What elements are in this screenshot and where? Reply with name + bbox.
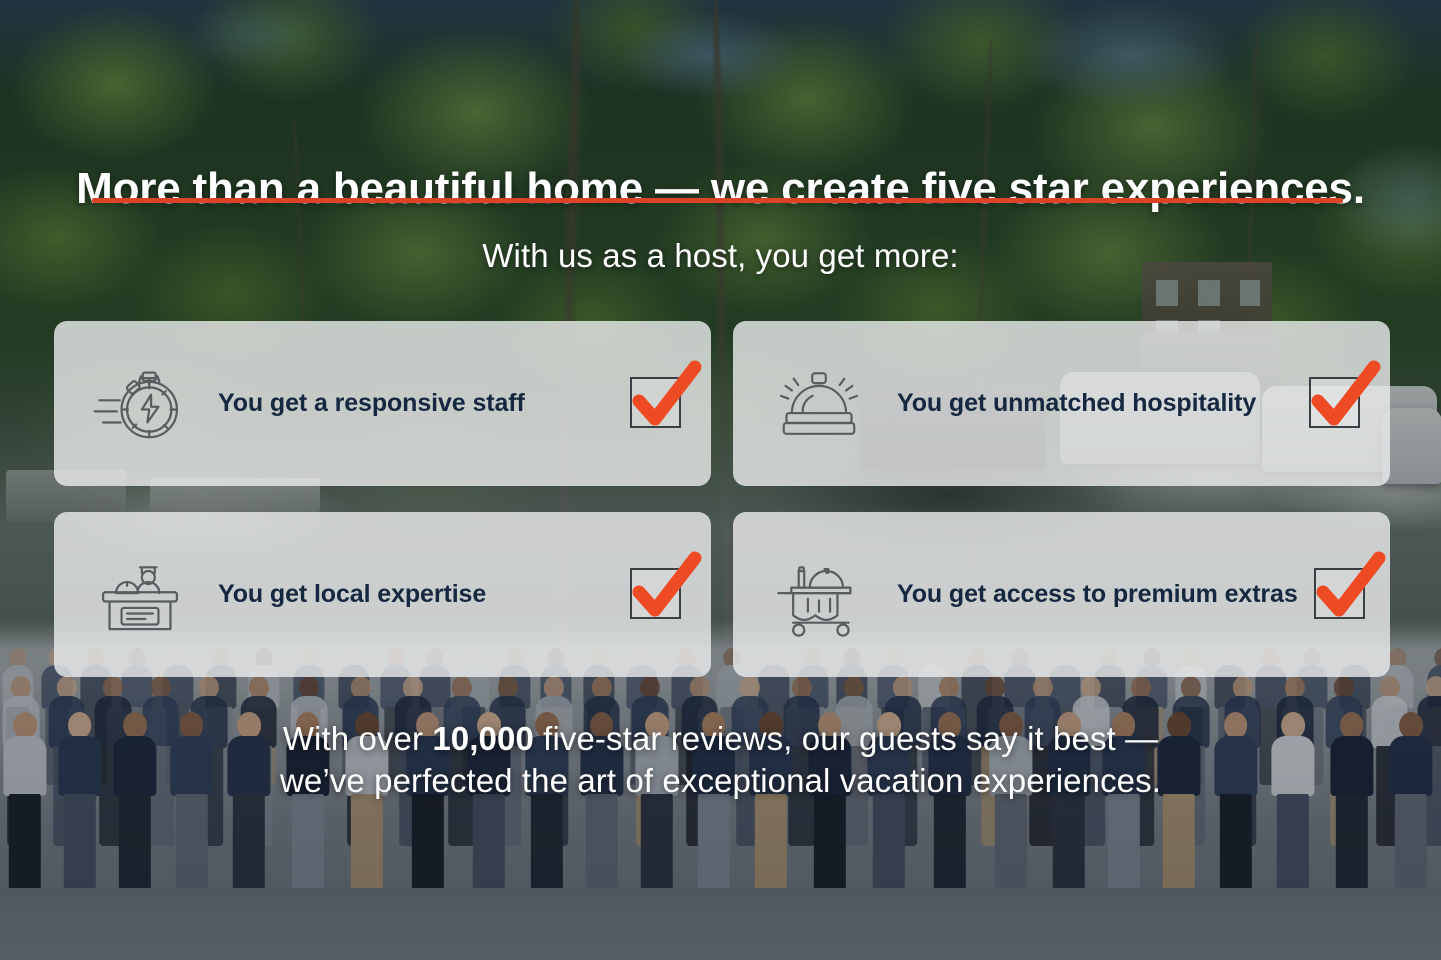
benefits-grid: You get a responsive staff [54,321,1390,677]
benefit-label: You get access to premium extras [871,580,1298,609]
reviews-line-1-prefix: With over [283,720,433,757]
hero-section: More than a beautiful home — we create f… [0,0,1441,960]
check-icon [1313,556,1385,624]
reviews-count: 10,000 [432,720,534,757]
benefit-label: You get unmatched hospitality [871,389,1293,418]
check-icon [629,556,701,624]
page-title: More than a beautiful home — we create f… [0,165,1441,213]
service-bell-icon [767,352,871,456]
benefit-card-local-expertise[interactable]: You get local expertise [54,512,711,677]
benefit-checkbox[interactable] [630,568,683,621]
check-icon [629,365,701,433]
stopwatch-lightning-icon [88,352,192,456]
reception-desk-icon [88,543,192,647]
benefit-card-responsive-staff[interactable]: You get a responsive staff [54,321,711,486]
benefit-card-premium-extras[interactable]: You get access to premium extras [733,512,1390,677]
benefit-card-unmatched-hospitality[interactable]: You get unmatched hospitality [733,321,1390,486]
reviews-line-1-suffix: five-star reviews, our guests say it bes… [534,720,1158,757]
benefit-label: You get a responsive staff [192,389,614,418]
check-icon [1308,365,1380,433]
benefit-checkbox[interactable] [1314,568,1367,621]
reviews-statement: With over 10,000 five-star reviews, our … [0,718,1441,802]
title-underline-rule [92,198,1343,203]
benefit-label: You get local expertise [192,580,614,609]
room-service-cart-icon [767,543,871,647]
benefit-checkbox[interactable] [1309,377,1362,430]
benefit-checkbox[interactable] [630,377,683,430]
reviews-line-2: we’ve perfected the art of exceptional v… [280,762,1161,799]
page-subtitle: With us as a host, you get more: [0,237,1441,275]
